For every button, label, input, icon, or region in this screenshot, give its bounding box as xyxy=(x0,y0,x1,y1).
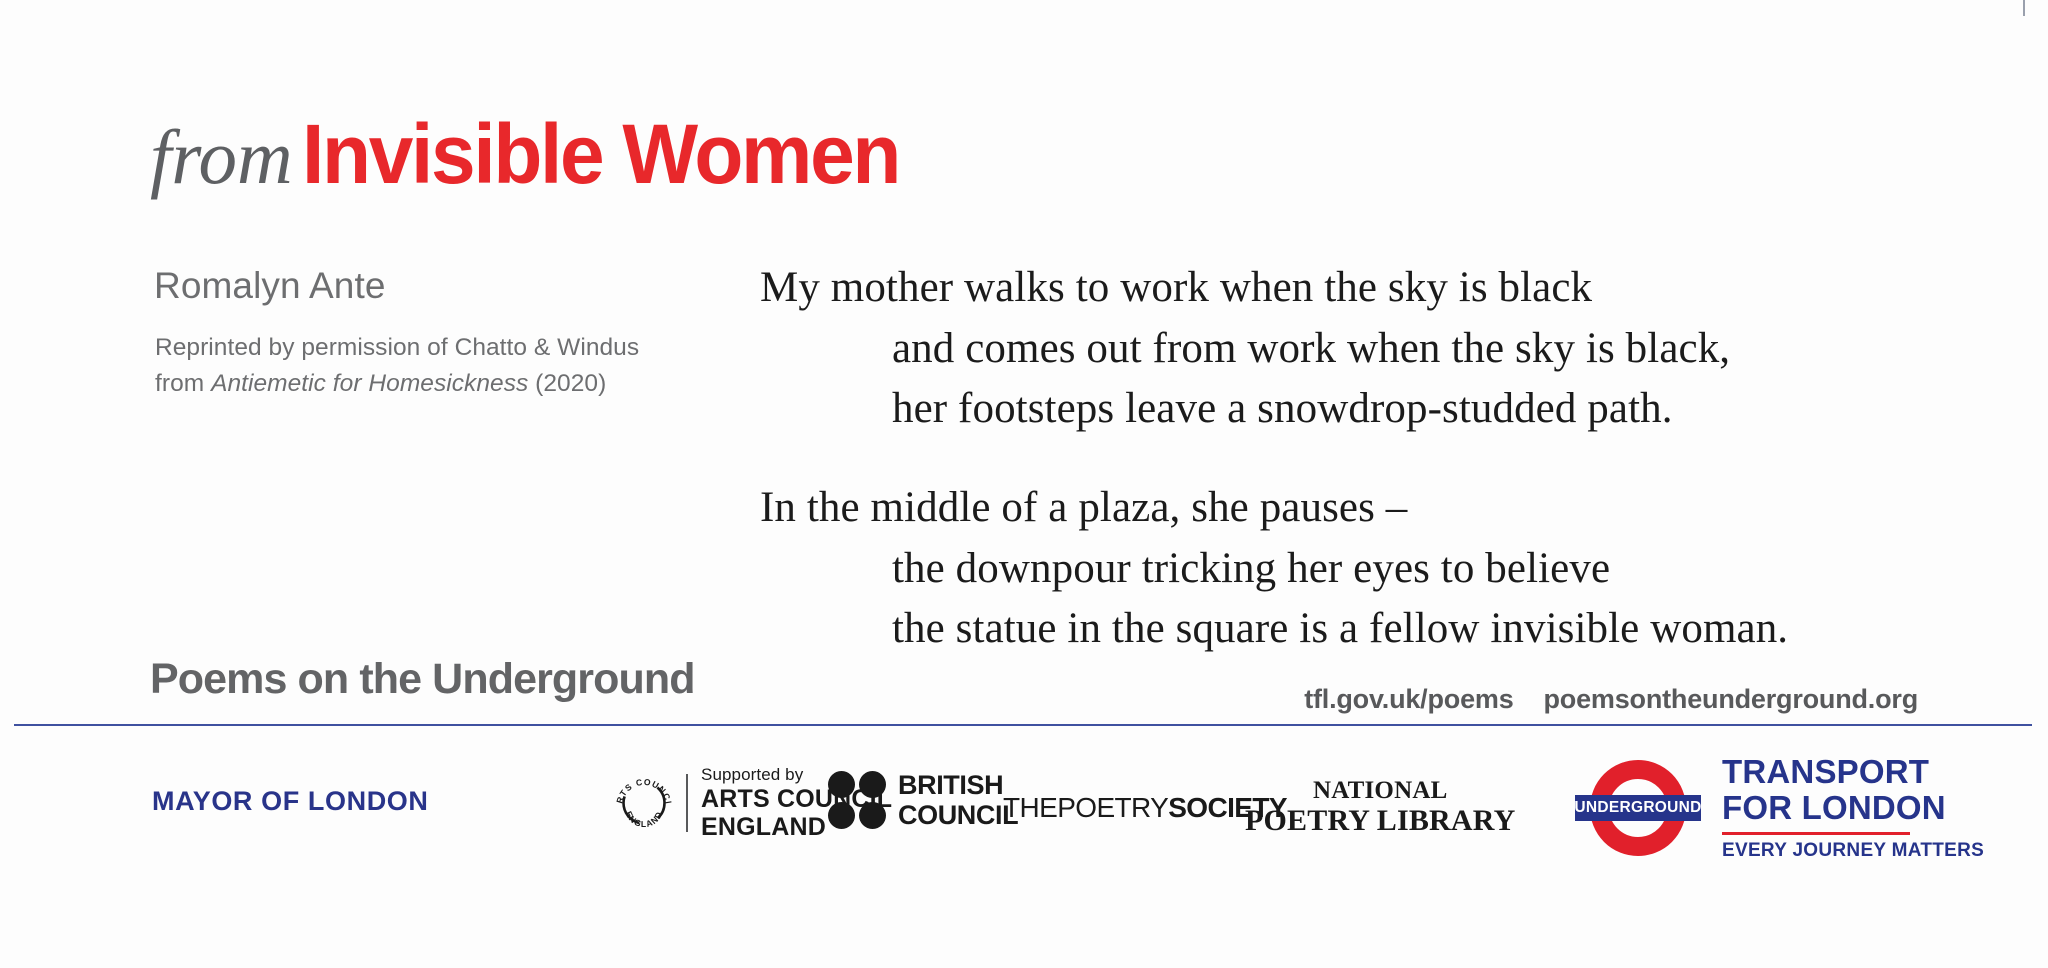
credit-line-1: Reprinted by permission of Chatto & Wind… xyxy=(155,330,639,366)
poem-stanza: In the middle of a plaza, she pauses – t… xyxy=(760,478,1788,660)
credit-from: from xyxy=(155,370,211,397)
poetry-society-thin: THEPOETRY xyxy=(1003,792,1168,823)
british-council-line-2: COUNCIL xyxy=(898,800,1018,830)
credit-book-title: Antiemetic for Homesickness xyxy=(211,370,528,397)
mayor-of-london-logo: MAYOR OF LONDON xyxy=(152,786,429,817)
edge-crop-mark xyxy=(2023,0,2025,16)
poem-credit: Reprinted by permission of Chatto & Wind… xyxy=(155,330,639,402)
poem-line: In the middle of a plaza, she pauses – xyxy=(760,478,1788,539)
tfl-red-rule xyxy=(1722,832,1910,835)
underground-roundel-icon: UNDERGROUND xyxy=(1582,752,1694,864)
poems-on-the-underground-wordmark: Poems on the Underground xyxy=(150,655,695,704)
poem-poster: from Invisible Women Romalyn Ante Reprin… xyxy=(0,0,2048,968)
credit-year: (2020) xyxy=(528,370,606,397)
tfl-line-2: FOR LONDON xyxy=(1722,790,1984,826)
divider-line xyxy=(686,774,688,832)
npl-line-2: POETRY LIBRARY xyxy=(1245,805,1515,837)
transport-for-london-logo: UNDERGROUND TRANSPORT FOR LONDON EVERY J… xyxy=(1582,752,1984,864)
british-council-dots-icon xyxy=(828,771,886,829)
tfl-tagline: EVERY JOURNEY MATTERS xyxy=(1722,840,1984,862)
horizontal-divider xyxy=(14,724,2032,726)
roundel-label: UNDERGROUND xyxy=(1574,799,1701,817)
poem-line: the downpour tricking her eyes to believ… xyxy=(760,539,1788,600)
poem-body: My mother walks to work when the sky is … xyxy=(760,258,1788,660)
british-council-line-1: BRITISH xyxy=(898,770,1018,800)
poem-line: and comes out from work when the sky is … xyxy=(760,319,1788,380)
title-prefix: from xyxy=(150,119,293,196)
poem-line: her footsteps leave a snowdrop-studded p… xyxy=(760,379,1788,440)
national-poetry-library-logo: NATIONAL POETRY LIBRARY xyxy=(1245,778,1515,836)
npl-line-1: NATIONAL xyxy=(1245,778,1515,805)
credit-line-2: from Antiemetic for Homesickness (2020) xyxy=(155,366,639,402)
poem-line: My mother walks to work when the sky is … xyxy=(760,258,1788,319)
footer-logo-bar: MAYOR OF LONDON ARTS COUNCIL ENGLAND xyxy=(0,740,2048,890)
svg-text:ARTS COUNCIL: ARTS COUNCIL xyxy=(613,772,674,805)
svg-text:ENGLAND: ENGLAND xyxy=(624,810,665,829)
url-list: tfl.gov.uk/poems poemsontheunderground.o… xyxy=(1304,684,1918,715)
poem-stanza: My mother walks to work when the sky is … xyxy=(760,258,1788,440)
url-poemsontheunderground[interactable]: poemsontheunderground.org xyxy=(1544,684,1918,715)
british-council-logo: BRITISH COUNCIL xyxy=(828,770,1018,830)
tfl-line-1: TRANSPORT xyxy=(1722,754,1984,790)
poem-line: the statue in the square is a fellow inv… xyxy=(760,599,1788,660)
page-title: Invisible Women xyxy=(302,112,899,196)
poem-author: Romalyn Ante xyxy=(154,265,386,307)
url-tfl[interactable]: tfl.gov.uk/poems xyxy=(1304,684,1513,715)
arts-council-roundel-icon: ARTS COUNCIL ENGLAND xyxy=(613,772,675,834)
poster-title: from Invisible Women xyxy=(150,112,927,196)
